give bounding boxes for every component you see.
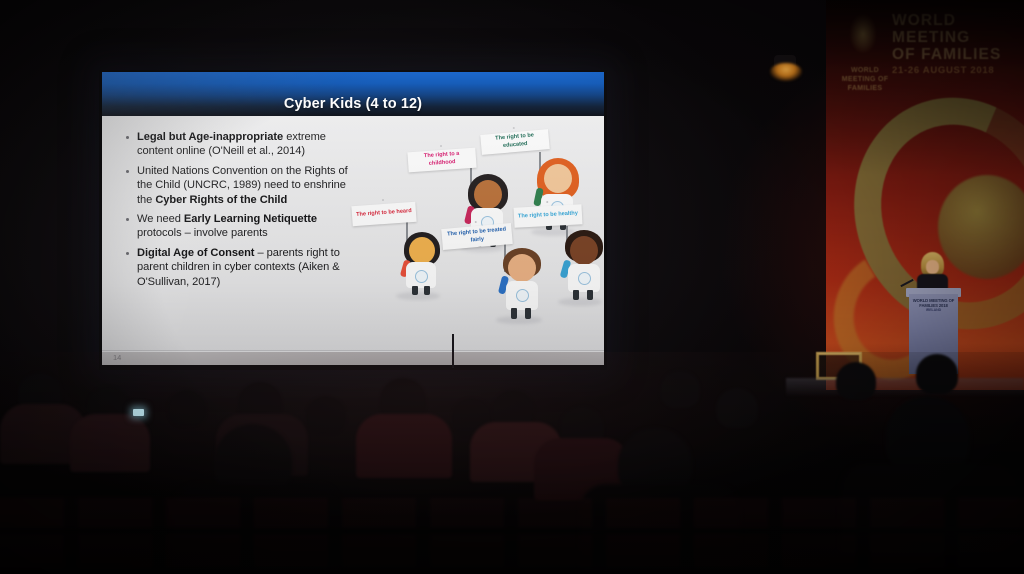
bullet-emphasis: Legal but Age-inappropriate (137, 131, 286, 143)
banner-line-1: WORLD (892, 12, 1020, 29)
sign-text: The right to be heard (356, 208, 412, 219)
audience-area (0, 352, 1024, 574)
bullet-emphasis: Digital Age of Consent (137, 247, 257, 259)
projection-screen: Cyber Kids (4 to 12) Legal but Age-inapp… (99, 70, 607, 370)
kid-head (544, 164, 572, 193)
audience-shading (0, 352, 1024, 574)
sign-pin-icon (440, 145, 442, 147)
stage-light-icon (770, 55, 802, 81)
bullet-text: protocols – involve parents (137, 227, 268, 239)
speaker-face (926, 260, 939, 274)
slide-title: Cyber Kids (4 to 12) (102, 96, 604, 112)
slide-title-bar: Cyber Kids (4 to 12) (102, 72, 604, 116)
bullet-emphasis: Early Learning Netiquette (184, 213, 317, 225)
kid-leg-right (424, 286, 430, 295)
kid-leg-right (587, 290, 593, 300)
banner-logo-subtitle: WORLD MEETING OF FAMILIES (836, 66, 894, 93)
kid-leg-right (525, 308, 531, 319)
sign-healthy: The right to be healthy (514, 204, 583, 228)
banner-date: 21-26 AUGUST 2018 (892, 65, 1020, 76)
audience-phone-screen (133, 409, 144, 416)
kid-head (409, 237, 435, 264)
kid-shadow (496, 316, 542, 324)
bullet-emphasis: Cyber Rights of the Child (155, 194, 287, 206)
podium-subtitle: IRELAND (911, 308, 956, 313)
kid-emblem (578, 272, 591, 285)
wmof-logo-icon (842, 12, 884, 76)
kid-head (508, 254, 536, 282)
banner-line-3: OF FAMILIES (892, 46, 1020, 63)
kid-boy-dark-skin (546, 212, 604, 310)
sign-text: The right to a childhood (411, 150, 474, 169)
presentation-slide: Cyber Kids (4 to 12) Legal but Age-inapp… (102, 72, 604, 365)
slide-bullet: United Nations Convention on the Rights … (124, 164, 356, 207)
lamp-glow (770, 63, 802, 81)
kid-leg-left (412, 286, 418, 295)
sign-text: The right to be treated fairly (444, 226, 509, 247)
slide-bullet: Legal but Age-inappropriate extreme cont… (124, 130, 356, 159)
sign-pin-icon (382, 199, 384, 201)
podium-title: WORLD MEETING OF FAMILIES 2018 (911, 298, 956, 308)
sign-pin-icon (513, 127, 515, 129)
sign-text: The right to be healthy (518, 211, 578, 222)
slide-body: Legal but Age-inappropriate extreme cont… (102, 116, 604, 365)
kid-leg-left (511, 308, 517, 319)
sign-pin-icon (546, 201, 548, 203)
kid-shadow (396, 292, 440, 300)
kid-emblem (516, 289, 529, 302)
sign-text: The right to be educated (483, 132, 546, 153)
slide-bullet: Digital Age of Consent – parents right t… (124, 246, 356, 289)
conference-hall-photo: WORLD MEETING OF FAMILIES WORLD MEETING … (0, 0, 1024, 574)
podium-microphone-icon (900, 279, 913, 287)
kid-head (474, 180, 502, 209)
kid-emblem (415, 270, 428, 283)
slide-bullet-list: Legal but Age-inappropriate extreme cont… (124, 130, 356, 294)
banner-line-2: MEETING (892, 29, 1020, 46)
kid-head (570, 236, 598, 265)
kid-leg-left (573, 290, 579, 300)
banner-text-block: WORLD MEETING OF FAMILIES 21-26 AUGUST 2… (892, 12, 1020, 76)
childrens-rights-illustration: The right to be heard The right to a chi… (350, 120, 602, 352)
bullet-text: We need (137, 213, 184, 225)
sign-pin-icon (475, 221, 477, 223)
kid-shadow (558, 298, 602, 306)
slide-bullet: We need Early Learning Netiquette protoc… (124, 212, 356, 241)
